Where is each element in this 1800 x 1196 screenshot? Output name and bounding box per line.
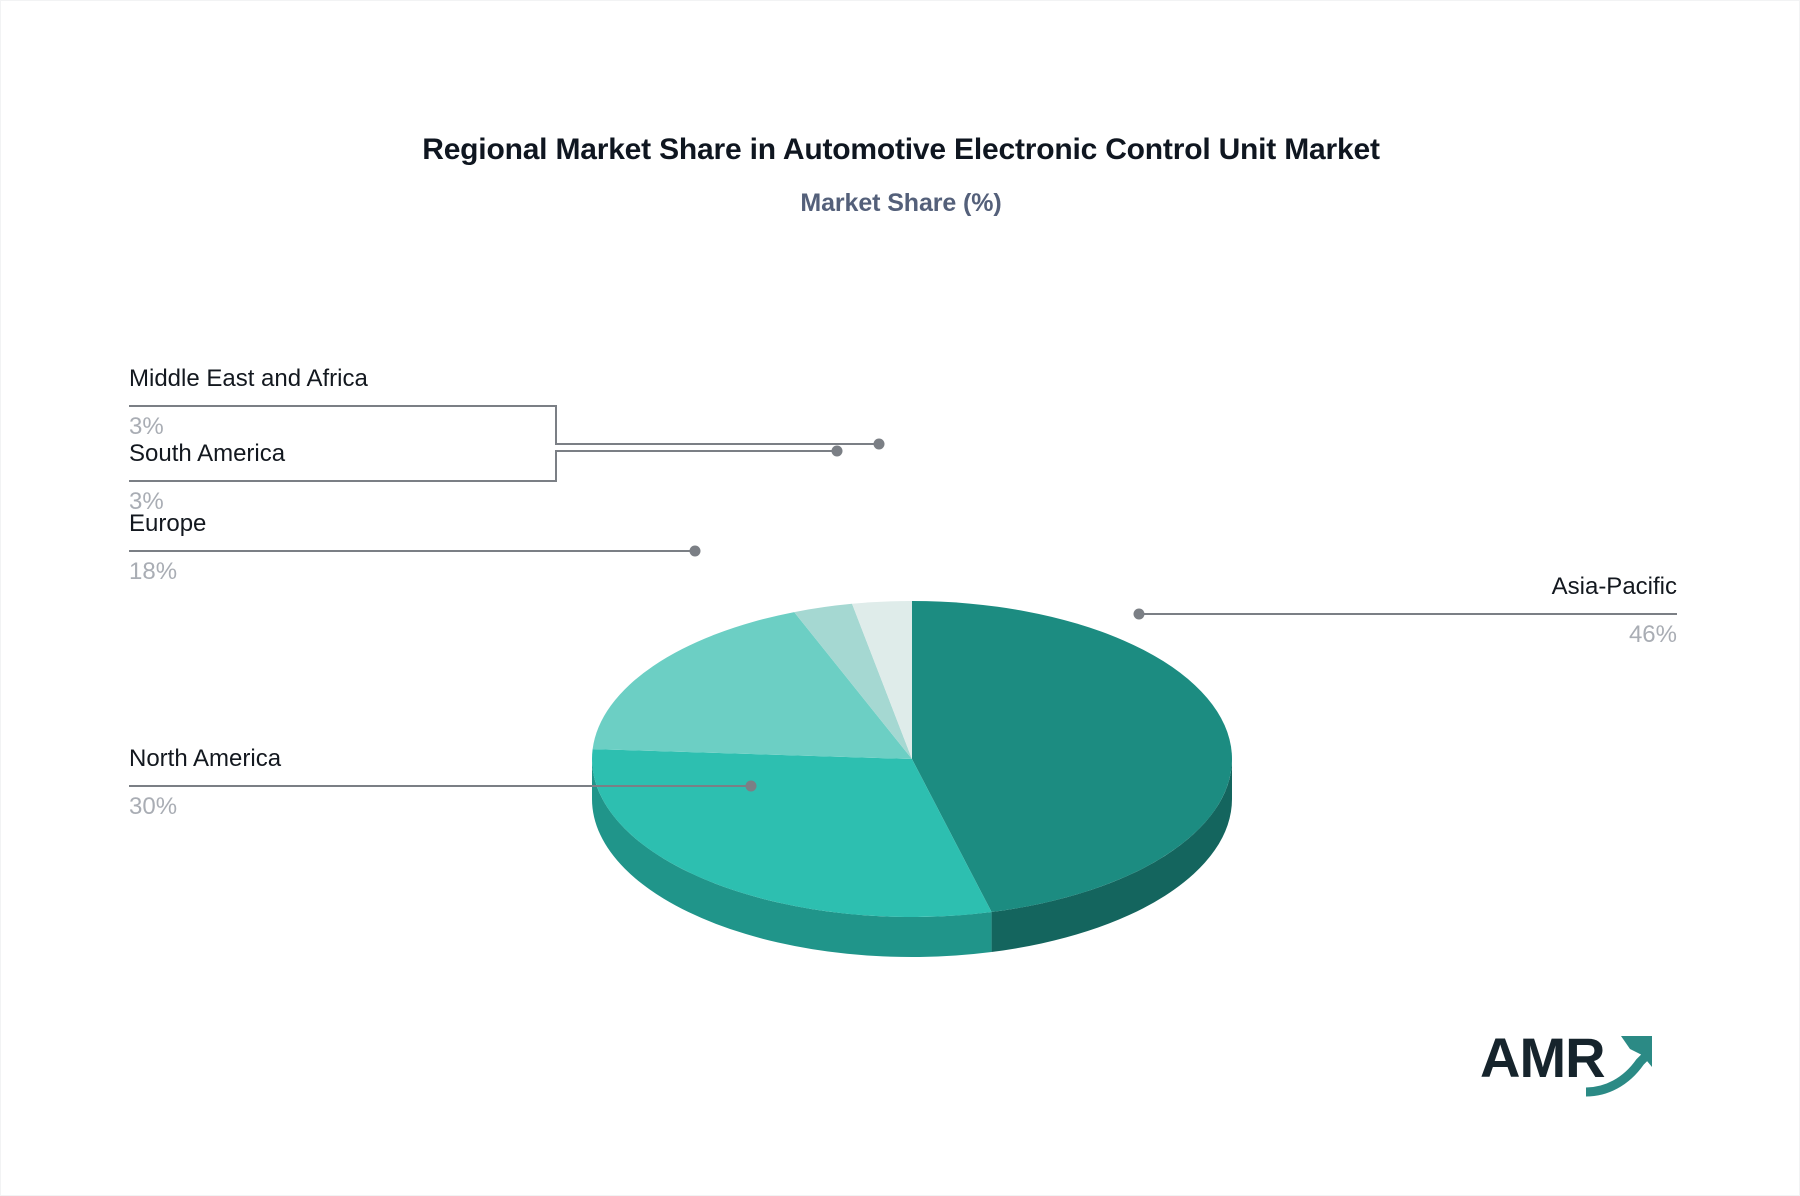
callout-label-north-america: North America [129,743,281,775]
amr-arrow-icon [1480,1030,1656,1098]
callout-label-middle-east-africa: Middle East and Africa [129,363,368,395]
callout-value-north-america: 30% [129,790,177,824]
callout-label-south-america: South America [129,438,285,470]
callout-value-asia-pacific: 46% [1629,618,1677,652]
callout-value-wrap-north-america: 30% [129,790,177,824]
amr-logo: AMR [1480,1030,1656,1098]
callout-south-america[interactable]: South America [129,438,285,470]
leader-dot-europe [690,546,701,557]
callout-middle-east-africa[interactable]: Middle East and Africa [129,363,368,395]
callout-value-wrap-europe: 18% [129,555,177,589]
callout-north-america[interactable]: North America [129,743,281,775]
callout-asia-pacific[interactable]: Asia-Pacific [1552,571,1677,603]
pie-top-faces [592,601,1232,917]
callout-label-asia-pacific: Asia-Pacific [1552,571,1677,603]
callout-value-europe: 18% [129,555,177,589]
leader-dot-middle-east-africa [874,439,885,450]
leader-dot-asia-pacific [1134,609,1145,620]
pie-chart-graphic [1,1,1800,1196]
callout-europe[interactable]: Europe [129,508,206,540]
leader-dot-north-america [746,781,757,792]
callout-label-europe: Europe [129,508,206,540]
leader-dot-south-america [832,446,843,457]
chart-canvas: Regional Market Share in Automotive Elec… [0,0,1800,1196]
callout-value-wrap-asia-pacific: 46% [1629,618,1677,652]
